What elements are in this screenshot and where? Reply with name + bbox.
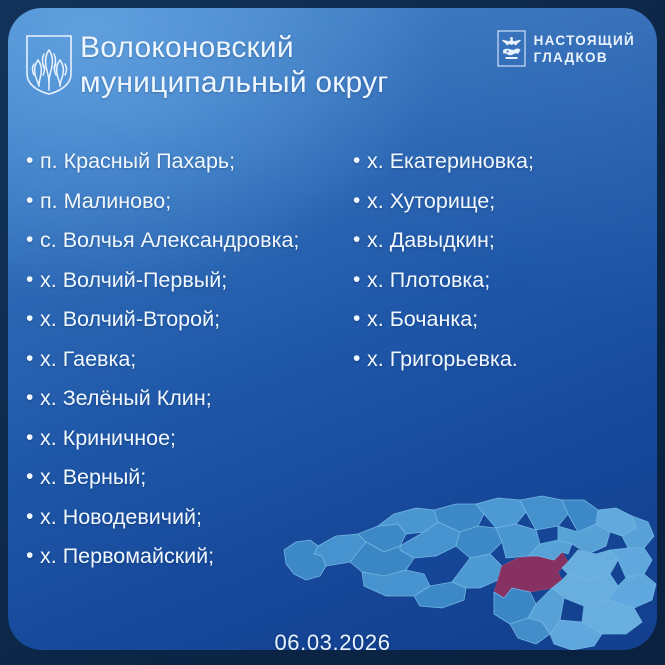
list-item: •х. Зелёный Клин; — [26, 385, 346, 411]
bullet-icon: • — [26, 464, 40, 490]
list-item-label: х. Волчий-Первый; — [40, 267, 346, 293]
bullet-icon: • — [26, 148, 40, 174]
bullet-icon: • — [353, 346, 367, 372]
brand-text: НАСТОЯЩИЙ ГЛАДКОВ — [534, 32, 635, 66]
bullet-icon: • — [26, 188, 40, 214]
bullet-icon: • — [26, 543, 40, 569]
poster-root: Волоконовский муниципальный округ — [0, 0, 665, 665]
list-item-label: х. Верный; — [40, 464, 346, 490]
list-item: •х. Криничное; — [26, 425, 346, 451]
list-item-label: х. Давыдкин; — [367, 227, 653, 253]
content-card: Волоконовский муниципальный округ — [8, 8, 657, 650]
bullet-icon: • — [26, 267, 40, 293]
list-item-label: х. Первомайский; — [40, 543, 346, 569]
list-item-label: х. Бочанка; — [367, 306, 653, 332]
page-title-line-1: Волоконовский — [80, 30, 490, 65]
list-item: •х. Волчий-Второй; — [26, 306, 346, 332]
bullet-icon: • — [353, 148, 367, 174]
bullet-icon: • — [26, 227, 40, 253]
list-item: •п. Красный Пахарь; — [26, 148, 346, 174]
list-item: •х. Волчий-Первый; — [26, 267, 346, 293]
list-item-label: х. Екатериновка; — [367, 148, 653, 174]
list-item-label: х. Волчий-Второй; — [40, 306, 346, 332]
list-item-label: х. Криничное; — [40, 425, 346, 451]
brand-line-1: НАСТОЯЩИЙ — [534, 32, 635, 49]
list-item: •х. Новодевичий; — [26, 504, 346, 530]
list-item: •х. Бочанка; — [353, 306, 653, 332]
list-item-label: х. Плотовка; — [367, 267, 653, 293]
bullet-icon: • — [26, 306, 40, 332]
bullet-icon: • — [26, 425, 40, 451]
bullet-icon: • — [26, 385, 40, 411]
list-item-label: х. Зелёный Клин; — [40, 385, 346, 411]
brand-line-2: ГЛАДКОВ — [534, 49, 635, 66]
list-item-label: х. Хуторище; — [367, 188, 653, 214]
list-item: •х. Гаевка; — [26, 346, 346, 372]
page-title: Волоконовский муниципальный округ — [80, 30, 490, 100]
bullet-icon: • — [353, 188, 367, 214]
list-item-label: с. Волчья Александровка; — [40, 227, 346, 253]
page-title-line-2: муниципальный округ — [80, 65, 490, 100]
list-item: •п. Малиново; — [26, 188, 346, 214]
three-tulips-coat-of-arms-icon — [25, 34, 73, 96]
list-item: •х. Верный; — [26, 464, 346, 490]
header: Волоконовский муниципальный округ — [8, 8, 657, 120]
date-label: 06.03.2026 — [8, 630, 657, 650]
settlements-list-left: •п. Красный Пахарь; •п. Малиново; •с. Во… — [26, 148, 346, 583]
bullet-icon: • — [353, 306, 367, 332]
list-item: •х. Григорьевка. — [353, 346, 653, 372]
list-item: •х. Давыдкин; — [353, 227, 653, 253]
list-item-label: п. Красный Пахарь; — [40, 148, 346, 174]
list-item: •х. Екатериновка; — [353, 148, 653, 174]
belgorod-region-coat-of-arms-icon — [497, 30, 526, 67]
bullet-icon: • — [26, 504, 40, 530]
list-item: •с. Волчья Александровка; — [26, 227, 346, 253]
list-item-label: п. Малиново; — [40, 188, 346, 214]
bullet-icon: • — [353, 227, 367, 253]
list-item-label: х. Григорьевка. — [367, 346, 653, 372]
list-item: •х. Хуторище; — [353, 188, 653, 214]
bullet-icon: • — [26, 346, 40, 372]
list-item-label: х. Новодевичий; — [40, 504, 346, 530]
brand-logo: НАСТОЯЩИЙ ГЛАДКОВ — [497, 30, 635, 67]
bullet-icon: • — [353, 267, 367, 293]
list-item: •х. Плотовка; — [353, 267, 653, 293]
list-item-label: х. Гаевка; — [40, 346, 346, 372]
list-item: •х. Первомайский; — [26, 543, 346, 569]
settlements-list-right: •х. Екатериновка; •х. Хуторище; •х. Давы… — [353, 148, 653, 385]
